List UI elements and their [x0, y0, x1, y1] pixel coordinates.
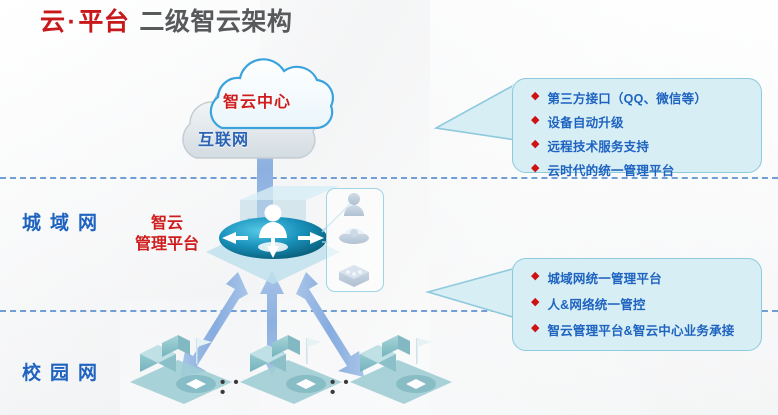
callout-top-item-0: ◆ 第三方接口（QQ、微信等）: [531, 88, 761, 107]
core-platform-label-line1: 智云: [126, 213, 208, 234]
zhiyun-center-cloud-label: 智云中心: [223, 88, 291, 112]
arrow-hub-to-campus-left: [180, 272, 248, 377]
callout-top-item-2: ◆ 远程技术服务支持: [531, 136, 761, 155]
callout-box-top: ◆ 第三方接口（QQ、微信等） ◆ 设备自动升级 ◆ 远程技术服务支持 ◆ 云时…: [512, 78, 762, 173]
callout-bottom-item-0: ◆ 城域网统一管理平台: [531, 268, 761, 287]
core-platform-label: 智云 管理平台: [126, 213, 208, 255]
callout-top-item-0-label: 第三方接口（QQ、微信等）: [547, 88, 707, 107]
diamond-bullet-icon: ◆: [531, 271, 539, 282]
connector-arrows: [0, 0, 778, 415]
campus-ellipsis-1: • • •: [220, 378, 246, 388]
campus-ellipsis-2: • • •: [330, 378, 356, 388]
diamond-bullet-icon: ◆: [531, 323, 539, 334]
callout-bottom-tail: [428, 266, 522, 320]
callout-bottom-item-1-label: 人&网络统一管控: [547, 294, 645, 313]
callout-top-item-2-label: 远程技术服务支持: [547, 136, 649, 155]
management-platform-hub: [206, 186, 340, 284]
core-platform-label-line2: 管理平台: [126, 234, 208, 255]
diamond-bullet-icon: ◆: [531, 163, 539, 174]
diamond-bullet-icon: ◆: [531, 139, 539, 150]
callout-bottom-item-2: ◆ 智云管理平台&智云中心业务承接: [531, 320, 761, 339]
callout-top-item-3-label: 云时代的统一管理平台: [547, 160, 674, 179]
callout-top-list: ◆ 第三方接口（QQ、微信等） ◆ 设备自动升级 ◆ 远程技术服务支持 ◆ 云时…: [513, 79, 761, 179]
campus-building-1: [130, 335, 232, 404]
callout-top-item-3: ◆ 云时代的统一管理平台: [531, 160, 761, 179]
slide-canvas: 云·平台二级智云架构 城域网 校园网: [0, 0, 778, 415]
resource-icon-strip: [326, 188, 384, 292]
callout-bottom-item-2-label: 智云管理平台&智云中心业务承接: [547, 320, 734, 339]
callout-top-item-1-label: 设备自动升级: [547, 112, 623, 131]
callout-box-bottom: ◆ 城域网统一管理平台 ◆ 人&网络统一管控 ◆ 智云管理平台&智云中心业务承接: [512, 258, 762, 351]
diamond-bullet-icon: ◆: [531, 297, 539, 308]
callout-bottom-item-1: ◆ 人&网络统一管控: [531, 294, 761, 313]
zhiyun-center-cloud: 智云中心: [205, 72, 341, 134]
campus-building-3: [350, 335, 452, 404]
callout-bottom-list: ◆ 城域网统一管理平台 ◆ 人&网络统一管控 ◆ 智云管理平台&智云中心业务承接: [513, 259, 761, 339]
callout-bottom-item-0-label: 城域网统一管理平台: [547, 268, 661, 287]
callout-top-tail: [436, 84, 522, 142]
callout-top-item-1: ◆ 设备自动升级: [531, 112, 761, 131]
campus-building-2: [240, 335, 342, 404]
diamond-bullet-icon: ◆: [531, 115, 539, 126]
diamond-bullet-icon: ◆: [531, 91, 539, 102]
